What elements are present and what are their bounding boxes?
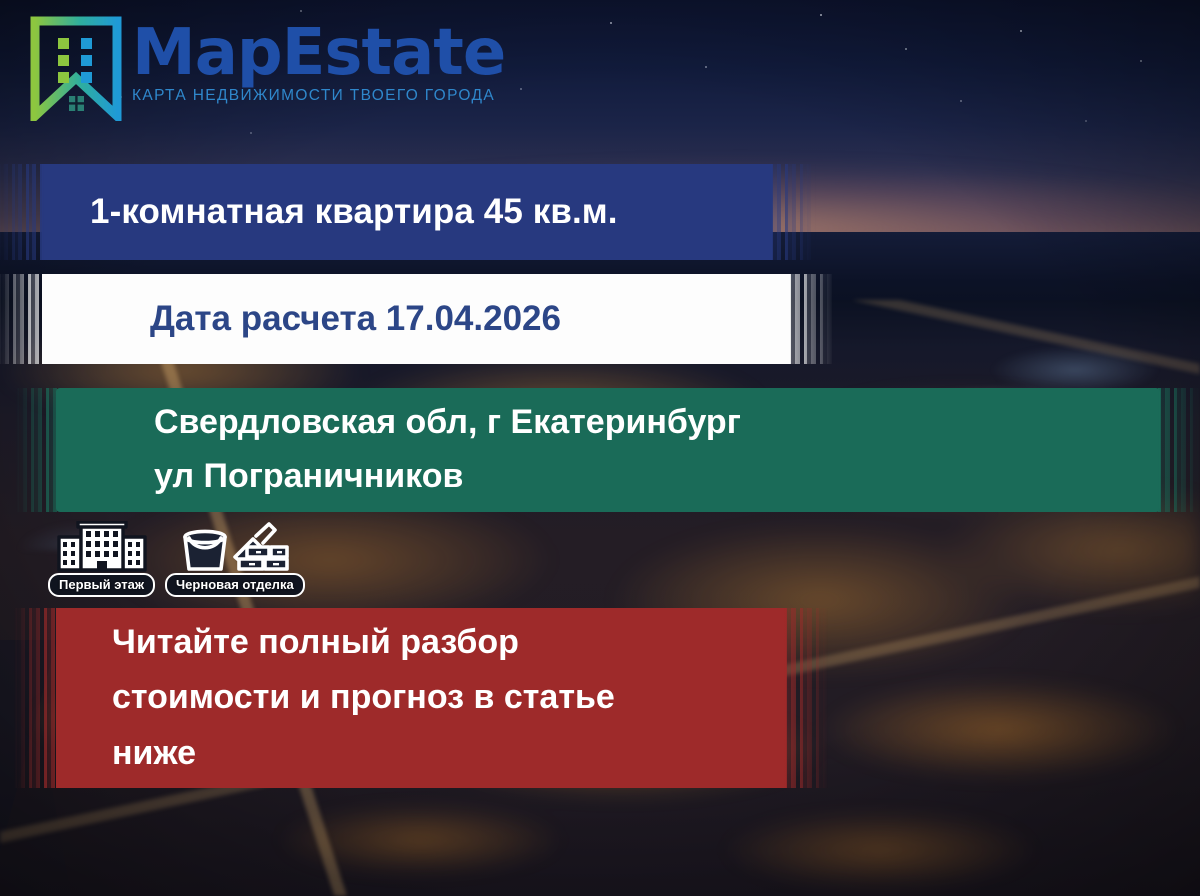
- property-title-text: 1-комнатная квартира 45 кв.м.: [90, 192, 618, 232]
- bookmark-building-icon: [30, 16, 122, 121]
- banner-right-streak: [784, 608, 828, 788]
- address-line-1: Свердловская обл, г Екатеринбург: [154, 396, 741, 450]
- apartment-building-icon: [54, 521, 150, 575]
- calculation-date-text: Дата расчета 17.04.2026: [150, 299, 561, 339]
- banner-left-streak: [14, 608, 58, 788]
- banner-left-streak: [0, 274, 44, 364]
- banner-left-streak: [16, 388, 58, 512]
- cta-banner[interactable]: Читайте полный разбор стоимости и прогно…: [56, 608, 786, 788]
- brand-logo[interactable]: MapEstate КАРТА НЕДВИЖИМОСТИ ТВОЕГО ГОРО…: [30, 16, 505, 121]
- cta-line-1: Читайте полный разбор: [112, 615, 519, 670]
- badge-first-floor-label: Первый этаж: [48, 573, 155, 597]
- banner-right-streak: [1158, 388, 1200, 512]
- banner-right-streak: [770, 164, 816, 260]
- banner-left-streak: [0, 164, 44, 260]
- property-feature-badges: Первый этаж: [48, 521, 305, 597]
- property-title-banner: 1-комнатная квартира 45 кв.м.: [42, 164, 772, 260]
- address-line-2: ул Пограничников: [154, 450, 463, 504]
- badge-rough-finish[interactable]: Черновая отделка: [165, 521, 305, 597]
- brand-tagline: КАРТА НЕДВИЖИМОСТИ ТВОЕГО ГОРОДА: [132, 87, 505, 105]
- cta-line-2: стоимости и прогноз в статье: [112, 670, 615, 725]
- brand-wordmark: MapEstate: [132, 22, 505, 85]
- calculation-date-banner: Дата расчета 17.04.2026: [42, 274, 790, 364]
- badge-rough-finish-label: Черновая отделка: [165, 573, 305, 597]
- banner-right-streak: [788, 274, 834, 364]
- poster-canvas: MapEstate КАРТА НЕДВИЖИМОСТИ ТВОЕГО ГОРО…: [0, 0, 1200, 896]
- brand-text: MapEstate КАРТА НЕДВИЖИМОСТИ ТВОЕГО ГОРО…: [132, 16, 505, 105]
- badge-first-floor[interactable]: Первый этаж: [48, 521, 155, 597]
- paint-bucket-trowel-icon: [179, 521, 291, 575]
- cta-line-3: ниже: [112, 726, 196, 781]
- address-banner: Свердловская обл, г Екатеринбург ул Погр…: [56, 388, 1160, 512]
